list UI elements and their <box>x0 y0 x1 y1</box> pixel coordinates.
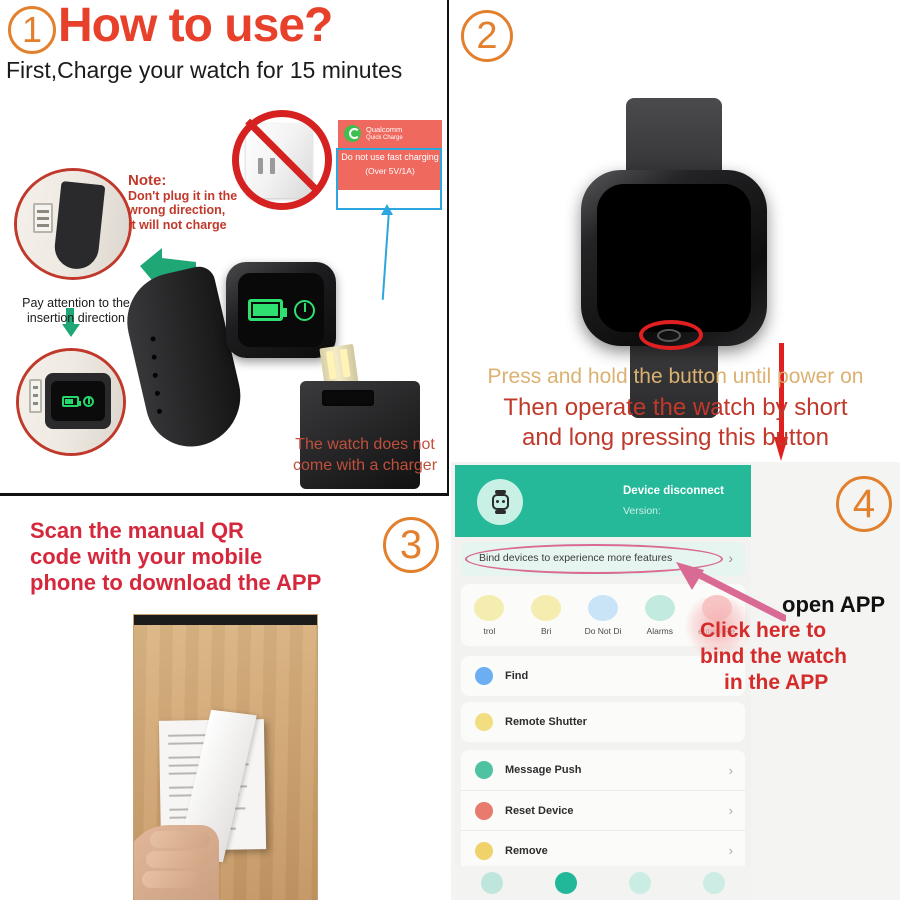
blue-arrow-stem <box>382 210 390 300</box>
quick-action-label: Alarms <box>632 626 688 636</box>
watch-screen-off <box>597 184 751 332</box>
annotation-line-2: bind the watch <box>700 644 900 670</box>
menu-item-label: Message Push <box>505 764 581 776</box>
battery-full-icon <box>248 299 283 321</box>
chevron-right-icon: › <box>729 843 733 858</box>
pay-attention-caption: Pay attention to the insertion direction <box>6 296 146 326</box>
prohibition-icon <box>232 110 332 210</box>
watch-power-on-illustration <box>556 98 786 398</box>
quick-action-label: Bri <box>518 626 574 636</box>
note-line-1: Don't plug it in the <box>128 189 237 204</box>
do-not-disturb-icon <box>588 595 618 621</box>
tab-profile-icon[interactable] <box>703 872 725 894</box>
usb-wrong-direction-photo <box>14 168 132 280</box>
footer-line-1: The watch does not <box>280 434 449 455</box>
operate-instruction: Then operate the watch by short and long… <box>451 393 900 453</box>
step-3-title-line-3: phone to download the APP <box>30 570 390 596</box>
step-3-title: Scan the manual QR code with your mobile… <box>30 518 390 596</box>
charging-illustration: Note: Don't plug it in the wrong directi… <box>0 96 449 494</box>
note-line-2: wrong direction, <box>128 203 237 218</box>
reset-icon <box>475 802 493 820</box>
bind-watch-annotation: Click here to bind the watch in the APP <box>700 618 900 696</box>
insertion-note: Note: Don't plug it in the wrong directi… <box>128 174 237 232</box>
smartwatch-body <box>226 262 336 358</box>
qualcomm-name: Qualcomm <box>366 125 403 134</box>
chevron-right-icon: › <box>729 803 733 818</box>
camera-icon <box>475 713 493 731</box>
chevron-right-icon: › <box>729 763 733 778</box>
app-header: Device disconnect Version: <box>455 465 751 537</box>
tab-home-icon[interactable] <box>555 872 577 894</box>
usb-slot <box>322 390 374 406</box>
brightness-icon <box>531 595 561 621</box>
quick-action-label: trol <box>461 626 517 636</box>
panel-step-3: Scan the manual QR code with your mobile… <box>0 499 449 900</box>
panel-step-4: 4 Device disconnect Version: Bind device… <box>451 462 900 900</box>
battery-icon <box>62 396 79 407</box>
note-line-3: it will not charge <box>128 218 237 233</box>
footer-line-2: come with a charger <box>280 455 449 476</box>
instruction-sheet: 1 How to use? First,Charge your watch fo… <box>0 0 900 900</box>
menu-item-label: Remote Shutter <box>505 716 587 728</box>
blue-arrow-up-icon <box>381 204 393 215</box>
menu-item-label: Remove <box>505 845 548 857</box>
annotation-line-1: Click here to <box>700 618 900 644</box>
qualcomm-logo-icon <box>344 125 361 142</box>
step-number-4: 4 <box>836 476 892 532</box>
menu-card-remote-shutter: Remote Shutter <box>461 702 745 742</box>
open-app-annotation: open APP <box>782 592 885 618</box>
manual-photo <box>133 614 318 900</box>
brightness-icon <box>474 595 504 621</box>
quick-action-item[interactable]: Bri <box>518 595 574 636</box>
device-version-label: Version: <box>623 505 661 517</box>
step-3-title-line-2: code with your mobile <box>30 544 390 570</box>
quick-charge-name: Quick Charge <box>366 134 403 142</box>
pay-attention-line-1: Pay attention to the <box>6 296 146 311</box>
pink-arrow-icon <box>656 560 786 622</box>
usb-correct-direction-photo <box>16 348 126 456</box>
tab-device-icon[interactable] <box>481 872 503 894</box>
no-fast-charger-symbol <box>232 110 332 210</box>
step-1-subtitle: First,Charge your watch for 15 minutes <box>6 57 402 84</box>
menu-item-remote-shutter[interactable]: Remote Shutter <box>461 702 745 742</box>
quick-action-item[interactable]: Do Not Di <box>575 595 631 636</box>
quick-action-item[interactable]: trol <box>461 595 517 636</box>
operate-line-2: and long pressing this button <box>451 423 900 453</box>
step-number-1: 1 <box>8 6 56 54</box>
qualcomm-brand-row: Qualcomm Quick Charge <box>344 125 403 142</box>
operate-line-1: Then operate the watch by short <box>451 393 900 423</box>
annotation-line-3: in the APP <box>724 670 900 696</box>
power-button-icon <box>294 300 315 321</box>
step-3-title-line-1: Scan the manual QR <box>30 518 390 544</box>
send-icon <box>475 761 493 779</box>
watch-charging-screen <box>238 273 324 347</box>
menu-item-reset-device[interactable]: Reset Device › <box>461 790 745 830</box>
no-charger-included-note: The watch does not come with a charger <box>280 434 449 476</box>
home-button-highlight <box>639 320 703 350</box>
pay-attention-line-2: insertion direction <box>6 311 146 326</box>
panel-step-1: 1 How to use? First,Charge your watch fo… <box>0 0 449 496</box>
power-icon <box>83 396 94 407</box>
bottom-tab-bar <box>455 866 751 900</box>
device-status-text: Device disconnect <box>623 485 724 497</box>
note-heading: Note: <box>128 174 237 189</box>
panel-step-2: 2 Press and hold the button until power … <box>451 0 900 462</box>
menu-item-remove[interactable]: Remove › <box>461 830 745 870</box>
menu-item-message-push[interactable]: Message Push › <box>461 750 745 790</box>
tab-discover-icon[interactable] <box>629 872 651 894</box>
menu-item-label: Reset Device <box>505 805 574 817</box>
blue-highlight-box <box>336 148 442 210</box>
page-title: How to use? <box>58 0 332 53</box>
step-number-2: 2 <box>461 10 513 62</box>
menu-item-label: Find <box>505 670 528 682</box>
device-avatar <box>477 479 523 525</box>
watch-icon <box>490 490 511 514</box>
hand-holding-manual <box>133 825 219 900</box>
find-icon <box>475 667 493 685</box>
power-on-instruction: Press and hold the button until power on <box>451 365 900 389</box>
step-number-3: 3 <box>383 517 439 573</box>
quick-action-label: Do Not Di <box>575 626 631 636</box>
charging-screen-mini <box>51 381 105 421</box>
unlink-icon <box>475 842 493 860</box>
